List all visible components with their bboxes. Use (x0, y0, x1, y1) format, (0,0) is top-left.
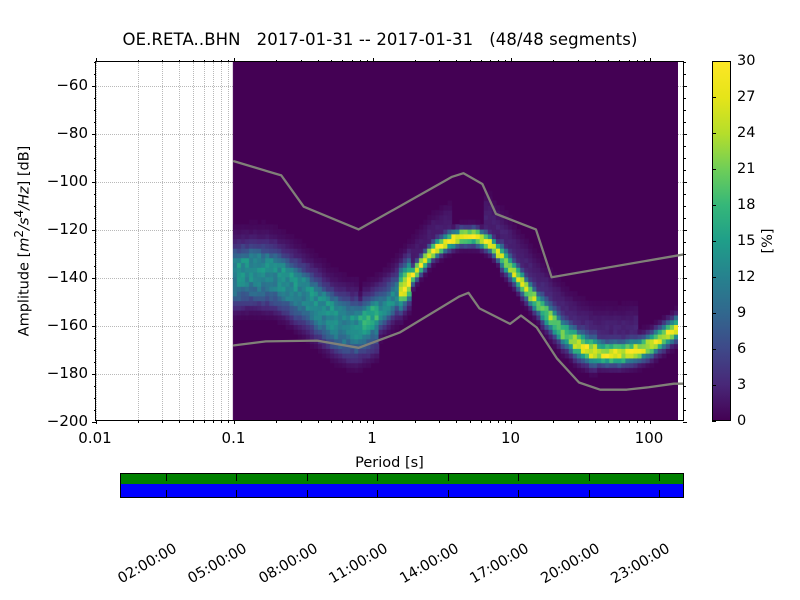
colorbar-tick-label: 3 (737, 377, 746, 393)
x-tick (221, 60, 222, 63)
x-tick-label: 100 (635, 429, 664, 447)
x-tick (637, 420, 638, 423)
y-tick (683, 374, 687, 375)
coverage-time-label: 11:00:00 (327, 541, 391, 587)
coverage-tick (166, 474, 167, 481)
y-tick (94, 362, 97, 363)
coverage-time-label: 05:00:00 (186, 541, 250, 587)
coverage-tick (589, 474, 590, 481)
x-tick (578, 420, 579, 423)
colorbar-tick-label: 27 (737, 89, 755, 105)
y-tick (92, 326, 96, 327)
time-coverage-bar (120, 473, 684, 498)
x-tick (470, 60, 471, 63)
y-tick (94, 386, 97, 387)
y-tick (94, 170, 97, 171)
y-tick (683, 266, 686, 267)
x-tick (644, 420, 645, 423)
y-tick (683, 86, 687, 87)
y-tick-label: −160 (47, 316, 88, 334)
x-tick (367, 60, 368, 63)
colorbar-tick-label: 15 (737, 233, 755, 249)
x-tick (162, 420, 163, 423)
x-tick (367, 420, 368, 423)
x-tick (138, 60, 139, 63)
x-tick (490, 60, 491, 63)
y-tick-label: −60 (56, 76, 88, 94)
ppsd-axes (95, 61, 684, 421)
coverage-tick (377, 490, 378, 497)
y-tick (94, 290, 97, 291)
x-tick (221, 420, 222, 423)
y-tick (94, 410, 97, 411)
coverage-tick (518, 474, 519, 481)
coverage-tick (377, 474, 378, 481)
y-tick-label: −200 (47, 412, 88, 430)
y-tick-label: −80 (56, 124, 88, 142)
x-tick (456, 420, 457, 423)
x-tick (342, 60, 343, 63)
colorbar-title: [%] (760, 228, 776, 253)
x-tick (228, 60, 229, 63)
coverage-tick (659, 474, 660, 481)
coverage-tick (448, 474, 449, 481)
colorbar-tick (712, 349, 716, 350)
y-tick (94, 122, 97, 123)
x-tick (204, 60, 205, 63)
x-tick (318, 420, 319, 423)
x-tick (301, 60, 302, 63)
y-tick (94, 266, 97, 267)
x-tick (650, 420, 651, 424)
y-tick (94, 62, 97, 63)
y-tick (94, 146, 97, 147)
x-tick (498, 420, 499, 423)
coverage-tick (659, 490, 660, 497)
colorbar-tick (712, 313, 716, 314)
y-tick (683, 98, 686, 99)
colorbar-tick-label: 18 (737, 197, 755, 213)
noise-model-high-curve (234, 161, 683, 277)
x-tick (481, 420, 482, 423)
coverage-time-label: 20:00:00 (538, 541, 602, 587)
coverage-time-label: 14:00:00 (397, 541, 461, 587)
x-tick-label: 0.01 (78, 429, 111, 447)
y-axis-title-text: Amplitude [m2/s4/Hz] [dB] (16, 146, 32, 337)
y-tick (683, 170, 686, 171)
y-tick (92, 134, 96, 135)
noise-model-curves (96, 62, 683, 420)
x-tick (481, 60, 482, 63)
y-tick (683, 122, 686, 123)
x-tick (276, 60, 277, 63)
x-tick (415, 420, 416, 423)
x-tick (301, 420, 302, 423)
y-tick (683, 410, 686, 411)
colorbar-tick (712, 205, 716, 206)
x-tick (595, 60, 596, 63)
x-axis-title: Period [s] (95, 455, 684, 471)
y-tick (94, 398, 97, 399)
coverage-tick (307, 490, 308, 497)
y-tick (683, 62, 686, 63)
coverage-tick (236, 490, 237, 497)
y-tick (683, 110, 686, 111)
x-tick (318, 60, 319, 63)
colorbar-tick-label: 9 (737, 305, 746, 321)
y-tick-label: −120 (47, 220, 88, 238)
x-tick (360, 60, 361, 63)
y-tick (683, 134, 687, 135)
y-tick (683, 146, 686, 147)
x-tick (439, 420, 440, 423)
y-tick (94, 350, 97, 351)
colorbar-tick-label: 24 (737, 125, 755, 141)
x-tick (179, 60, 180, 63)
y-tick (94, 302, 97, 303)
y-tick (92, 230, 96, 231)
x-tick (373, 58, 374, 62)
y-tick (94, 158, 97, 159)
y-tick (683, 194, 686, 195)
x-tick (608, 60, 609, 63)
coverage-time-label: 02:00:00 (115, 541, 179, 587)
y-tick (92, 86, 96, 87)
y-tick (683, 158, 686, 159)
x-tick (276, 420, 277, 423)
coverage-time-label: 08:00:00 (256, 541, 320, 587)
x-tick (511, 58, 512, 62)
y-tick (683, 350, 686, 351)
coverage-time-label: 23:00:00 (609, 541, 673, 587)
y-tick (683, 254, 686, 255)
x-tick (578, 60, 579, 63)
coverage-tick (518, 490, 519, 497)
x-tick (637, 60, 638, 63)
y-tick (683, 326, 687, 327)
y-tick (683, 206, 686, 207)
noise-model-low-curve (234, 293, 683, 390)
y-tick (94, 338, 97, 339)
y-tick (94, 254, 97, 255)
y-tick (94, 74, 97, 75)
colorbar-tick-label: 6 (737, 341, 746, 357)
x-tick (96, 420, 97, 424)
x-tick (553, 60, 554, 63)
colorbar-tick-label: 12 (737, 269, 755, 285)
y-tick (683, 278, 687, 279)
ppsd-figure: OE.RETA..BHN 2017-01-31 -- 2017-01-31 (4… (0, 0, 800, 600)
x-tick (650, 58, 651, 62)
plot-clip-region (96, 62, 683, 420)
y-tick (92, 374, 96, 375)
y-tick (683, 386, 686, 387)
x-tick (456, 60, 457, 63)
x-tick (629, 60, 630, 63)
x-tick-label: 10 (501, 429, 520, 447)
x-tick (234, 58, 235, 62)
y-tick-label: −140 (47, 268, 88, 286)
x-tick (193, 420, 194, 423)
x-tick-label: 0.1 (222, 429, 246, 447)
colorbar-tick-label: 21 (737, 161, 755, 177)
y-tick (92, 278, 96, 279)
x-tick (213, 420, 214, 423)
y-tick (683, 230, 687, 231)
y-tick (683, 290, 686, 291)
x-tick (138, 420, 139, 423)
y-tick (683, 302, 686, 303)
x-tick (213, 60, 214, 63)
x-tick (644, 60, 645, 63)
y-tick (683, 182, 687, 183)
coverage-tick (236, 474, 237, 481)
y-tick (94, 110, 97, 111)
x-tick (470, 420, 471, 423)
y-tick (683, 398, 686, 399)
y-tick (683, 422, 687, 423)
x-tick (352, 420, 353, 423)
coverage-tick (307, 474, 308, 481)
x-tick (360, 420, 361, 423)
page-title: OE.RETA..BHN 2017-01-31 -- 2017-01-31 (4… (0, 30, 760, 49)
y-tick (683, 362, 686, 363)
coverage-band-green (121, 474, 683, 484)
x-tick (96, 58, 97, 62)
x-tick (331, 420, 332, 423)
coverage-tick (448, 490, 449, 497)
x-tick (331, 60, 332, 63)
y-tick (94, 218, 97, 219)
y-tick (92, 182, 96, 183)
colorbar-tick (712, 277, 716, 278)
y-tick-label: −100 (47, 172, 88, 190)
colorbar-tick-label: 30 (737, 53, 755, 69)
x-tick (553, 420, 554, 423)
y-tick (683, 314, 686, 315)
y-tick (92, 422, 96, 423)
y-tick (94, 98, 97, 99)
colorbar-tick (712, 241, 716, 242)
y-tick (94, 242, 97, 243)
x-tick (342, 420, 343, 423)
y-tick (94, 206, 97, 207)
x-tick (162, 60, 163, 63)
x-tick (498, 60, 499, 63)
coverage-time-label: 17:00:00 (468, 541, 532, 587)
x-tick (490, 420, 491, 423)
x-tick-label: 1 (367, 429, 377, 447)
coverage-tick (589, 490, 590, 497)
colorbar-tick (712, 61, 716, 62)
colorbar-tick-label: 0 (737, 413, 746, 429)
y-tick (683, 218, 686, 219)
colorbar-tick (712, 97, 716, 98)
x-tick (439, 60, 440, 63)
x-tick (193, 60, 194, 63)
x-tick (629, 420, 630, 423)
x-tick (595, 420, 596, 423)
colorbar-tick (712, 421, 716, 422)
y-tick (683, 338, 686, 339)
x-tick (234, 420, 235, 424)
x-tick (373, 420, 374, 424)
colorbar-tick (712, 133, 716, 134)
x-tick (352, 60, 353, 63)
y-tick (683, 74, 686, 75)
x-tick (204, 420, 205, 423)
y-tick-label: −180 (47, 364, 88, 382)
x-tick (505, 420, 506, 423)
colorbar-tick (712, 169, 716, 170)
coverage-band-blue (121, 484, 683, 497)
coverage-tick (166, 490, 167, 497)
x-tick (415, 60, 416, 63)
x-tick (619, 60, 620, 63)
x-tick (179, 420, 180, 423)
x-tick (608, 420, 609, 423)
y-tick (94, 194, 97, 195)
x-tick (505, 60, 506, 63)
x-tick (228, 420, 229, 423)
x-tick (619, 420, 620, 423)
x-tick (511, 420, 512, 424)
y-tick (94, 314, 97, 315)
y-tick (683, 242, 686, 243)
colorbar-tick (712, 385, 716, 386)
